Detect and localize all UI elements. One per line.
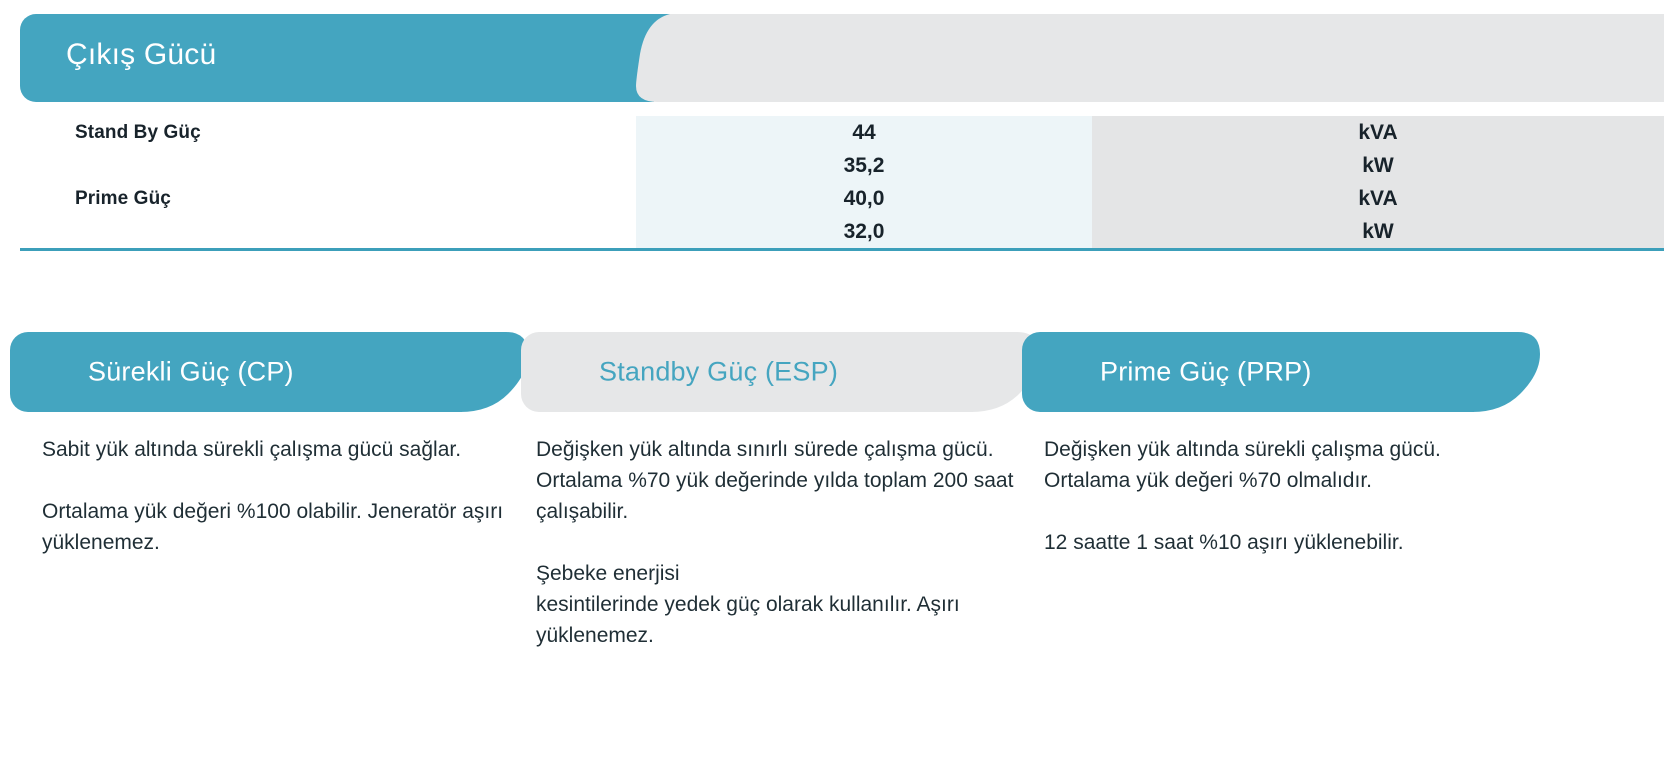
- table-bottom-divider: [20, 248, 1664, 251]
- spec-table-body: Stand By Güç 44 kVA 35,2 kW Prime Güç 40…: [0, 116, 1664, 248]
- row-label-cell: Prime Güç: [0, 182, 636, 215]
- table-row: 32,0 kW: [0, 215, 1664, 248]
- card-body: Değişken yük altında sınırlı sürede çalı…: [536, 434, 1016, 651]
- row-label-text: Prime Güç: [75, 188, 171, 210]
- row-label-cell-empty: [0, 149, 636, 182]
- card-title: Sürekli Güç (CP): [88, 357, 294, 388]
- row-value-cell: 35,2: [636, 149, 1092, 182]
- row-label-cell-empty: [0, 215, 636, 248]
- row-unit-cell: kVA: [1092, 116, 1664, 149]
- card-prime-guc: Prime Güç (PRP) Değişken yük altında sür…: [1022, 322, 1534, 772]
- card-body: Sabit yük altında sürekli çalışma gücü s…: [42, 434, 512, 558]
- card-paragraph: 12 saatte 1 saat %10 aşırı yüklenebilir.: [1044, 527, 1522, 558]
- card-title: Standby Güç (ESP): [599, 357, 838, 388]
- card-header: Sürekli Güç (CP): [10, 332, 522, 412]
- spec-sheet-page: Çıkış Gücü Stand By Güç 44 kVA 35,2 kW: [0, 0, 1664, 772]
- output-power-table: Çıkış Gücü Stand By Güç 44 kVA 35,2 kW: [0, 0, 1664, 256]
- table-row: Stand By Güç 44 kVA: [0, 116, 1664, 149]
- row-label-text: Stand By Güç: [75, 122, 201, 144]
- row-label-cell: Stand By Güç: [0, 116, 636, 149]
- card-header: Prime Güç (PRP): [1022, 332, 1534, 412]
- card-surekli-guc: Sürekli Güç (CP) Sabit yük altında sürek…: [10, 322, 522, 772]
- card-paragraph: Değişken yük altında sürekli çalışma güc…: [1044, 434, 1522, 496]
- row-value-cell: 32,0: [636, 215, 1092, 248]
- power-definition-cards: Sürekli Güç (CP) Sabit yük altında sürek…: [0, 322, 1664, 772]
- card-paragraph: Şebeke enerjisi kesintilerinde yedek güç…: [536, 558, 1016, 651]
- row-value-cell: 40,0: [636, 182, 1092, 215]
- card-header: Standby Güç (ESP): [521, 332, 1033, 412]
- card-paragraph: Ortalama yük değeri %100 olabilir. Jener…: [42, 496, 512, 558]
- table-header-title: Çıkış Gücü: [66, 38, 216, 72]
- card-header-tail-shape: [1466, 332, 1540, 412]
- table-row: Prime Güç 40,0 kVA: [0, 182, 1664, 215]
- table-row: 35,2 kW: [0, 149, 1664, 182]
- row-unit-cell: kW: [1092, 149, 1664, 182]
- table-header-gray-banner: [700, 14, 1664, 102]
- card-header-tail-shape: [454, 332, 528, 412]
- row-unit-cell: kW: [1092, 215, 1664, 248]
- card-paragraph: Sabit yük altında sürekli çalışma gücü s…: [42, 434, 512, 465]
- row-unit-cell: kVA: [1092, 182, 1664, 215]
- card-standby-guc: Standby Güç (ESP) Değişken yük altında s…: [521, 322, 1033, 772]
- card-title: Prime Güç (PRP): [1100, 357, 1312, 388]
- row-value-cell: 44: [636, 116, 1092, 149]
- card-paragraph: Değişken yük altında sınırlı sürede çalı…: [536, 434, 1016, 527]
- card-body: Değişken yük altında sürekli çalışma güc…: [1044, 434, 1522, 558]
